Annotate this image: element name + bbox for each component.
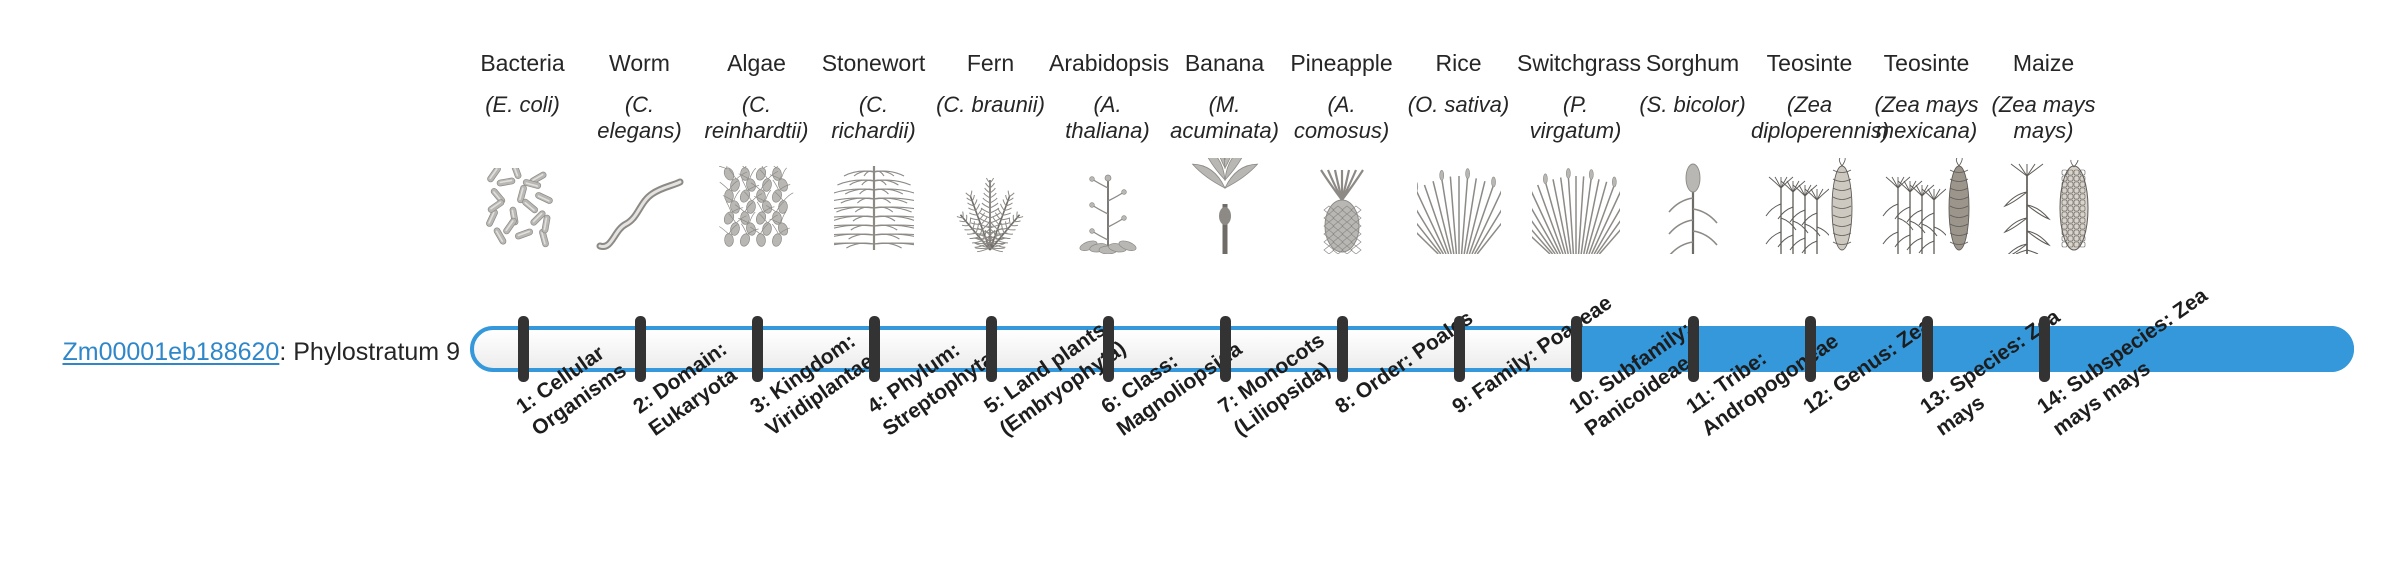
gene-id-link[interactable]: Zm00001eb188620 xyxy=(62,338,279,366)
species-common-name: Switchgrass xyxy=(1517,50,1634,80)
species-scientific-name: (E. coli) xyxy=(464,92,581,148)
maize-plant-and-cob-illustration xyxy=(1988,158,2100,254)
species-column-list: Bacteria(E. coli) xyxy=(464,50,2356,310)
species-common-name: Sorghum xyxy=(1634,50,1751,80)
species-common-name: Maize xyxy=(1985,50,2102,80)
nematode-worm-illustration xyxy=(584,158,696,254)
node-tick[interactable] xyxy=(1805,316,1816,382)
species-column[interactable]: Arabidopsis(A. thaliana) xyxy=(1049,50,1166,148)
species-column[interactable]: Banana(M. acuminata) xyxy=(1166,50,1283,148)
species-scientific-name: (A. comosus) xyxy=(1283,92,1400,148)
species-column[interactable]: Pineapple(A. comosus) xyxy=(1283,50,1400,148)
species-column[interactable]: Teosinte(Zea diploperennis) xyxy=(1751,50,1868,148)
stonewort-alga-illustration xyxy=(818,158,930,254)
node-tick[interactable] xyxy=(1922,316,1933,382)
species-column[interactable]: Switchgrass(P. virgatum) xyxy=(1517,50,1634,148)
teosinte-plant-and-ear-illustration xyxy=(1754,158,1866,254)
pineapple-fruit-illustration xyxy=(1286,158,1398,254)
node-tick[interactable] xyxy=(869,316,880,382)
species-common-name: Fern xyxy=(932,50,1049,80)
node-tick[interactable] xyxy=(2039,316,2050,382)
phylostratum-value-text: Phylostratum 9 xyxy=(293,338,460,366)
gene-label-separator: : xyxy=(279,338,293,366)
node-tick[interactable] xyxy=(1688,316,1699,382)
species-column[interactable]: Stonewort(C. richardii) xyxy=(815,50,932,148)
sorghum-panicle-illustration xyxy=(1637,158,1749,254)
species-common-name: Algae xyxy=(698,50,815,80)
switchgrass-clump-illustration xyxy=(1520,158,1632,254)
species-column[interactable]: Sorghum(S. bicolor) xyxy=(1634,50,1751,148)
rice-plant-illustration xyxy=(1403,158,1515,254)
species-column[interactable]: Rice(O. sativa) xyxy=(1400,50,1517,148)
node-tick[interactable] xyxy=(986,316,997,382)
species-scientific-name: (C. elegans) xyxy=(581,92,698,148)
node-tick[interactable] xyxy=(1571,316,1582,382)
species-scientific-name: (M. acuminata) xyxy=(1166,92,1283,148)
node-tick[interactable] xyxy=(635,316,646,382)
species-scientific-name: (C. braunii) xyxy=(932,92,1049,148)
species-column[interactable]: Bacteria(E. coli) xyxy=(464,50,581,148)
species-common-name: Rice xyxy=(1400,50,1517,80)
species-scientific-name: (C. reinhardtii) xyxy=(698,92,815,148)
node-tick[interactable] xyxy=(1220,316,1231,382)
species-common-name: Bacteria xyxy=(464,50,581,80)
bacteria-rods-illustration xyxy=(467,158,579,254)
species-scientific-name: (Zea mays mexicana) xyxy=(1868,92,1985,148)
species-column[interactable]: Maize(Zea mays mays) xyxy=(1985,50,2102,148)
species-scientific-name: (S. bicolor) xyxy=(1634,92,1751,148)
species-common-name: Teosinte xyxy=(1868,50,1985,80)
node-tick[interactable] xyxy=(518,316,529,382)
species-column[interactable]: Fern(C. braunii) xyxy=(932,50,1049,148)
species-scientific-name: (O. sativa) xyxy=(1400,92,1517,148)
species-scientific-name: (Zea mays mays) xyxy=(1985,92,2102,148)
phylostratigraphy-widget: Zm00001eb188620: Phylostratum 9 Bacteria… xyxy=(0,0,2400,580)
species-column[interactable]: Algae(C. reinhardtii) xyxy=(698,50,815,148)
species-scientific-name: (A. thaliana) xyxy=(1049,92,1166,148)
species-scientific-name: (P. virgatum) xyxy=(1517,92,1634,148)
banana-tree-illustration xyxy=(1169,158,1281,254)
teosinte-mexicana-plant-and-ear-illustration xyxy=(1871,158,1983,254)
node-tick[interactable] xyxy=(1454,316,1465,382)
node-tick[interactable] xyxy=(1103,316,1114,382)
species-common-name: Banana xyxy=(1166,50,1283,80)
species-column[interactable]: Worm(C. elegans) xyxy=(581,50,698,148)
node-tick[interactable] xyxy=(752,316,763,382)
species-common-name: Stonewort xyxy=(815,50,932,80)
species-scientific-name: (Zea diploperennis) xyxy=(1751,92,1868,148)
arabidopsis-rosette-illustration xyxy=(1052,158,1164,254)
green-algae-cells-illustration xyxy=(701,158,813,254)
species-common-name: Pineapple xyxy=(1283,50,1400,80)
species-column[interactable]: Teosinte(Zea mays mexicana) xyxy=(1868,50,1985,148)
species-common-name: Arabidopsis xyxy=(1049,50,1166,80)
gene-phylostratum-label: Zm00001eb188620: Phylostratum 9 xyxy=(40,337,460,367)
species-common-name: Teosinte xyxy=(1751,50,1868,80)
node-tick[interactable] xyxy=(1337,316,1348,382)
fern-frond-illustration xyxy=(935,158,1047,254)
species-scientific-name: (C. richardii) xyxy=(815,92,932,148)
species-common-name: Worm xyxy=(581,50,698,80)
